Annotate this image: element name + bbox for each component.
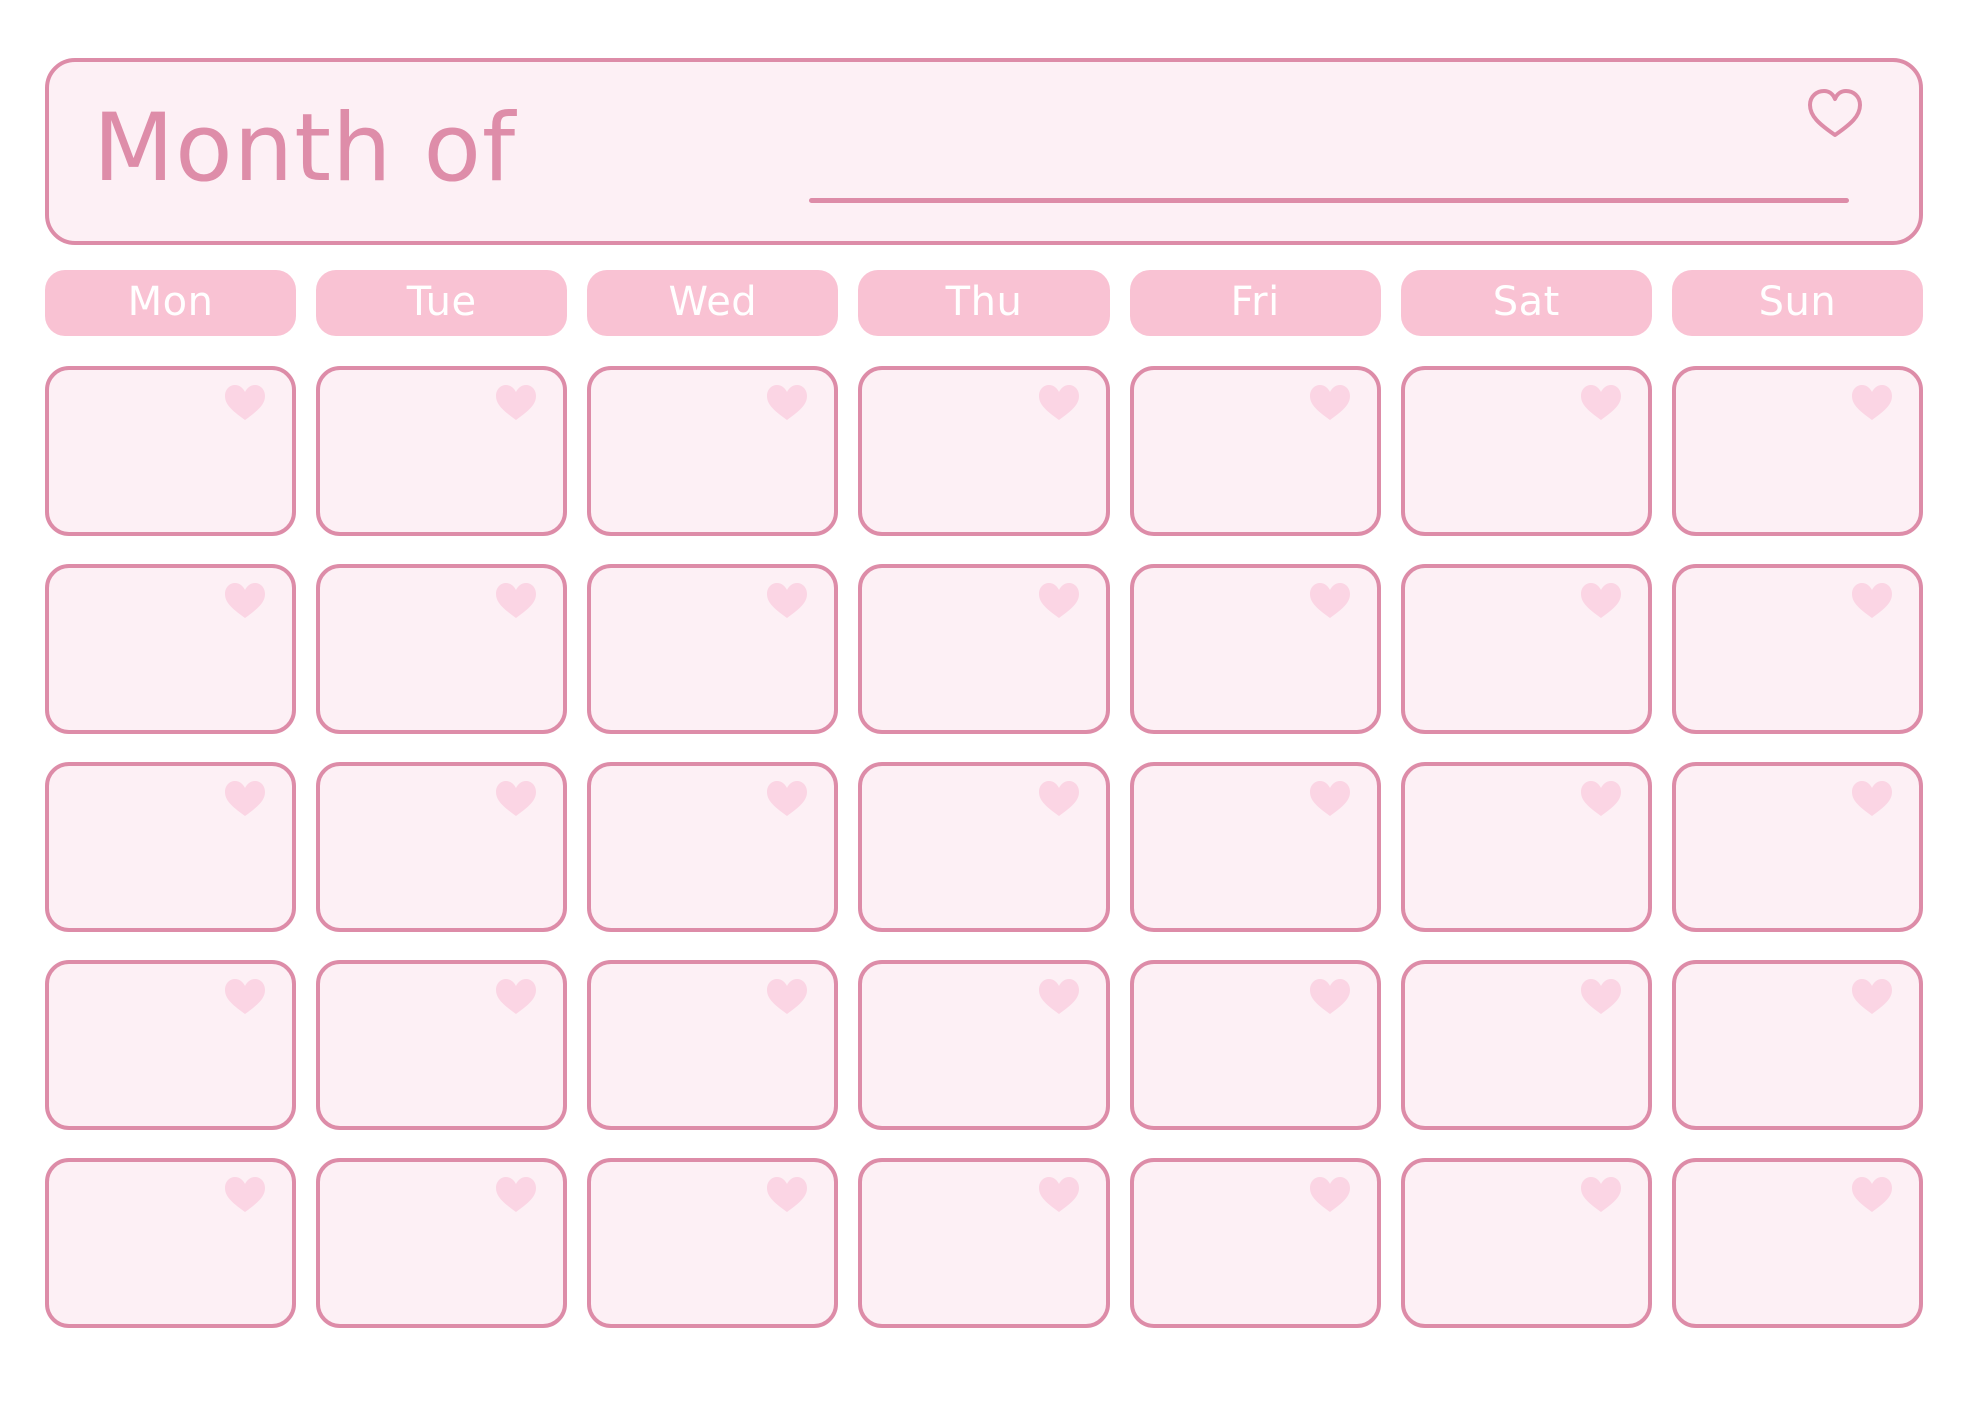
heart-filled-icon xyxy=(1038,780,1080,818)
day-cell[interactable] xyxy=(1672,960,1923,1130)
day-cell[interactable] xyxy=(587,366,838,536)
heart-filled-icon xyxy=(224,978,266,1016)
weekday-label: Sat xyxy=(1493,282,1560,322)
heart-filled-icon xyxy=(1309,1176,1351,1214)
heart-filled-icon xyxy=(766,978,808,1016)
heart-filled-icon xyxy=(1580,582,1622,620)
day-cell[interactable] xyxy=(1672,564,1923,734)
heart-filled-icon xyxy=(766,780,808,818)
day-cell[interactable] xyxy=(316,960,567,1130)
day-cell[interactable] xyxy=(587,960,838,1130)
weekday-header-row: Mon Tue Wed Thu Fri Sat Sun xyxy=(45,270,1923,336)
heart-outline-icon xyxy=(1807,88,1863,140)
heart-filled-icon xyxy=(495,1176,537,1214)
day-cell[interactable] xyxy=(587,564,838,734)
heart-filled-icon xyxy=(1309,780,1351,818)
heart-filled-icon xyxy=(1038,978,1080,1016)
heart-filled-icon xyxy=(1851,1176,1893,1214)
weekday-label: Tue xyxy=(407,282,477,322)
heart-filled-icon xyxy=(224,1176,266,1214)
weekday-pill-thu: Thu xyxy=(858,270,1109,336)
day-cell[interactable] xyxy=(45,1158,296,1328)
day-cell[interactable] xyxy=(316,366,567,536)
heart-filled-icon xyxy=(1851,384,1893,422)
day-cell[interactable] xyxy=(45,366,296,536)
day-cell[interactable] xyxy=(1130,564,1381,734)
day-cell[interactable] xyxy=(45,762,296,932)
weekday-pill-mon: Mon xyxy=(45,270,296,336)
heart-filled-icon xyxy=(1580,978,1622,1016)
heart-filled-icon xyxy=(1851,582,1893,620)
weekday-pill-fri: Fri xyxy=(1130,270,1381,336)
day-cell[interactable] xyxy=(45,564,296,734)
heart-filled-icon xyxy=(224,384,266,422)
day-cell[interactable] xyxy=(45,960,296,1130)
day-cell[interactable] xyxy=(1401,1158,1652,1328)
day-cell[interactable] xyxy=(1672,762,1923,932)
day-cell[interactable] xyxy=(858,366,1109,536)
weekday-pill-wed: Wed xyxy=(587,270,838,336)
heart-filled-icon xyxy=(495,780,537,818)
heart-filled-icon xyxy=(1851,780,1893,818)
heart-filled-icon xyxy=(495,384,537,422)
month-header-box: Month of xyxy=(45,58,1923,245)
heart-filled-icon xyxy=(766,1176,808,1214)
heart-filled-icon xyxy=(1038,384,1080,422)
heart-filled-icon xyxy=(1580,780,1622,818)
weekday-pill-sat: Sat xyxy=(1401,270,1652,336)
day-cell[interactable] xyxy=(1401,960,1652,1130)
heart-filled-icon xyxy=(1038,582,1080,620)
heart-filled-icon xyxy=(1580,384,1622,422)
day-cell[interactable] xyxy=(1130,960,1381,1130)
day-cell[interactable] xyxy=(316,564,567,734)
day-cell[interactable] xyxy=(1672,1158,1923,1328)
weekday-pill-sun: Sun xyxy=(1672,270,1923,336)
day-cell[interactable] xyxy=(858,564,1109,734)
day-cell[interactable] xyxy=(858,762,1109,932)
weekday-pill-tue: Tue xyxy=(316,270,567,336)
day-cell[interactable] xyxy=(1401,762,1652,932)
day-cell[interactable] xyxy=(1130,762,1381,932)
heart-filled-icon xyxy=(495,582,537,620)
calendar-day-grid xyxy=(45,366,1923,1328)
heart-filled-icon xyxy=(1580,1176,1622,1214)
heart-filled-icon xyxy=(224,780,266,818)
day-cell[interactable] xyxy=(858,960,1109,1130)
weekday-label: Sun xyxy=(1759,282,1837,322)
day-cell[interactable] xyxy=(858,1158,1109,1328)
day-cell[interactable] xyxy=(587,762,838,932)
heart-filled-icon xyxy=(766,582,808,620)
day-cell[interactable] xyxy=(1672,366,1923,536)
weekday-label: Mon xyxy=(128,282,214,322)
heart-filled-icon xyxy=(1851,978,1893,1016)
day-cell[interactable] xyxy=(1401,366,1652,536)
heart-filled-icon xyxy=(1309,582,1351,620)
day-cell[interactable] xyxy=(1130,1158,1381,1328)
weekday-label: Fri xyxy=(1231,282,1280,322)
day-cell[interactable] xyxy=(1401,564,1652,734)
day-cell[interactable] xyxy=(587,1158,838,1328)
heart-filled-icon xyxy=(224,582,266,620)
calendar-page: Month of Mon Tue Wed Thu Fri Sat Sun xyxy=(0,0,1968,1424)
heart-filled-icon xyxy=(1038,1176,1080,1214)
weekday-label: Thu xyxy=(946,282,1023,322)
day-cell[interactable] xyxy=(1130,366,1381,536)
heart-filled-icon xyxy=(766,384,808,422)
month-name-input-line[interactable] xyxy=(809,198,1849,203)
heart-filled-icon xyxy=(1309,384,1351,422)
day-cell[interactable] xyxy=(316,1158,567,1328)
page-title: Month of xyxy=(93,102,516,196)
day-cell[interactable] xyxy=(316,762,567,932)
heart-filled-icon xyxy=(1309,978,1351,1016)
heart-filled-icon xyxy=(495,978,537,1016)
weekday-label: Wed xyxy=(668,282,757,322)
